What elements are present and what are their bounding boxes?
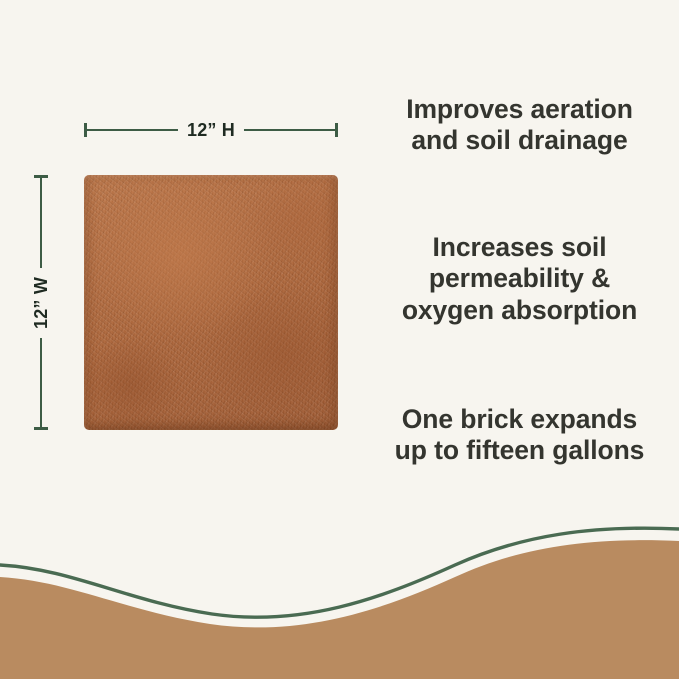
benefit-line: and soil drainage [360,125,679,156]
dimension-vertical-label: 12” W [30,267,52,337]
dimension-horizontal: 12” H [84,119,338,141]
dimension-vertical-cap-bottom [34,427,48,430]
dimension-vertical: 12” W [30,175,52,430]
benefit-item-expansion-volume: One brick expands up to fifteen gallons [360,404,679,467]
benefit-line: up to fifteen gallons [360,435,679,466]
soil-wave-fill [0,540,679,679]
dimension-horizontal-label: 12” H [178,119,244,141]
benefit-line: permeability & [360,263,679,294]
soil-wave-decoration [0,519,679,679]
benefit-line: oxygen absorption [360,295,679,326]
infographic-canvas: 12” H 12” W Improves aeration and soil d… [0,0,679,679]
coco-coir-brick-image [84,175,338,430]
benefits-list: Improves aeration and soil drainage Incr… [360,0,679,520]
dimension-horizontal-cap-right [335,123,338,137]
benefit-item-aeration-drainage: Improves aeration and soil drainage [360,94,679,157]
benefit-line: One brick expands [360,404,679,435]
benefit-line: Improves aeration [360,94,679,125]
product-image-panel: 12” H 12” W [0,0,360,520]
benefit-item-permeability-oxygen: Increases soil permeability & oxygen abs… [360,232,679,326]
benefit-line: Increases soil [360,232,679,263]
